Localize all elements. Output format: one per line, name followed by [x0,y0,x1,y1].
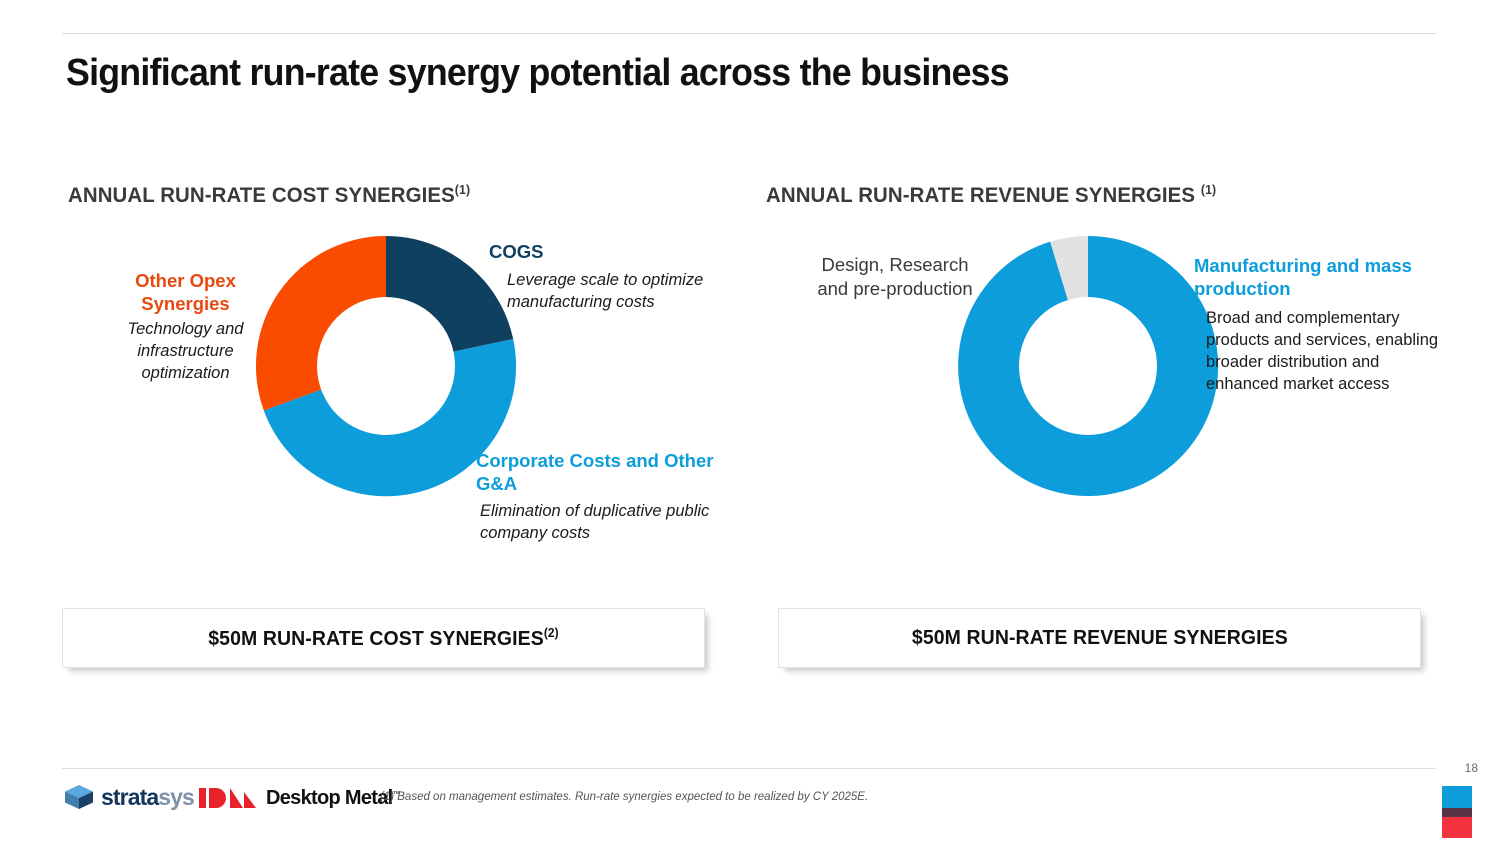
callout-cogs-title: COGS [489,241,719,264]
stratasys-wordmark-part1: strata [101,784,158,810]
summary-box-cost: $50M RUN-RATE COST SYNERGIES(2) [62,608,705,668]
callout-design-research: Design, Research and pre-production [804,253,986,301]
summary-box-revenue: $50M RUN-RATE REVENUE SYNERGIES [778,608,1421,668]
section-header-revenue-footnote: (1) [1201,182,1216,197]
summary-box-cost-label: $50M RUN-RATE COST SYNERGIES [208,626,544,649]
page-number: 18 [1465,761,1478,775]
callout-cogs-description: Leverage scale to optimize manufacturing… [489,270,719,314]
callout-manufacturing-title: Manufacturing and mass production [1194,255,1444,300]
callout-corporate-costs-description: Elimination of duplicative public compan… [476,501,716,545]
corner-decoration-red [1442,817,1472,838]
desktop-metal-wordmark-label: Desktop Metal [266,787,393,809]
callout-cogs: COGS Leverage scale to optimize manufact… [489,241,719,313]
footer-divider [62,768,1436,769]
corner-decoration-blue [1442,786,1472,808]
revenue-donut-svg [952,230,1224,502]
cost-synergies-panel: Other Opex Synergies Technology and infr… [62,225,762,585]
stratasys-wordmark: stratasys [101,786,194,809]
callout-manufacturing: Manufacturing and mass production Broad … [1194,255,1444,396]
callout-corporate-costs-title: Corporate Costs and Other G&A [476,450,716,495]
stratasys-logo: stratasys [64,784,194,810]
callout-corporate-costs: Corporate Costs and Other G&A Eliminatio… [476,450,716,545]
footnote-text: (1) Based on management estimates. Run-r… [380,791,868,803]
section-header-cost-footnote: (1) [455,182,470,197]
revenue-synergies-panel: Design, Research and pre-production Manu… [766,225,1466,585]
slide: Significant run-rate synergy potential a… [0,0,1500,843]
corner-decoration-mid [1442,808,1472,817]
stratasys-wordmark-part2: sys [158,784,194,810]
callout-other-opex-title: Other Opex Synergies [98,270,273,315]
section-header-revenue-label: ANNUAL RUN-RATE REVENUE SYNERGIES [766,183,1195,207]
desktop-metal-mark-icon [199,786,257,810]
cost-donut-hole [317,297,455,435]
summary-box-cost-footnote: (2) [544,626,559,640]
callout-manufacturing-description: Broad and complementary products and ser… [1194,308,1444,396]
corner-decoration [1442,786,1472,838]
section-header-cost-label: ANNUAL RUN-RATE COST SYNERGIES [68,183,455,207]
revenue-donut-hole [1019,297,1157,435]
top-divider [62,33,1436,34]
callout-other-opex-description: Technology and infrastructure optimizati… [98,319,273,385]
revenue-donut-chart [952,230,1224,502]
summary-box-revenue-text: $50M RUN-RATE REVENUE SYNERGIES [912,626,1288,650]
section-header-revenue: ANNUAL RUN-RATE REVENUE SYNERGIES (1) [766,182,1216,208]
stratasys-mark-icon [64,784,94,810]
summary-box-cost-text: $50M RUN-RATE COST SYNERGIES(2) [208,626,558,651]
section-header-cost: ANNUAL RUN-RATE COST SYNERGIES(1) [68,182,470,208]
callout-design-research-title: Design, Research and pre-production [804,253,986,301]
page-title: Significant run-rate synergy potential a… [66,52,1009,95]
callout-other-opex: Other Opex Synergies Technology and infr… [98,270,273,385]
desktop-metal-logo: Desktop Metal™ [199,786,400,810]
